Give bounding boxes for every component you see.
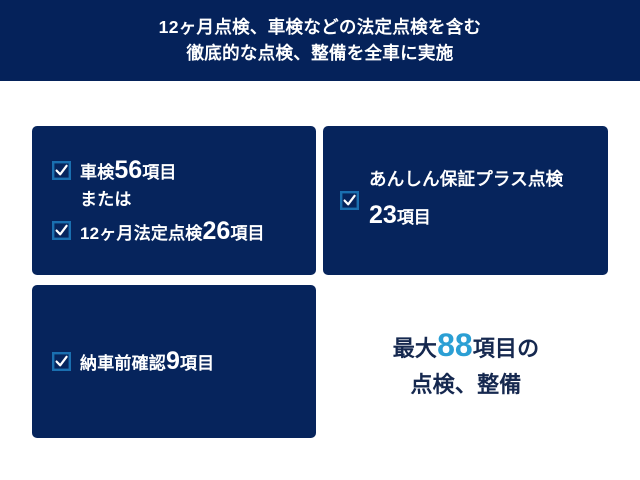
inspection-row-2: または: [52, 190, 316, 210]
card-warranty: あんしん保証プラス点検 23項目: [323, 126, 608, 275]
banner-line-2: 徹底的な点検、整備を全車に実施: [187, 41, 454, 66]
inspection-row-3: 12ヶ月法定点検26項目: [52, 216, 316, 246]
predelivery-suffix: 項目: [180, 354, 214, 373]
warranty-text-block: あんしん保証プラス点検 23項目: [369, 169, 563, 231]
checkbox-checked-icon: [340, 191, 359, 210]
summary-total: 最大88項目の 点検、整備: [324, 285, 608, 438]
summary-line-2: 点検、整備: [410, 369, 521, 401]
inspection-row-3-text: 12ヶ月法定点検26項目: [80, 216, 265, 246]
predelivery-number: 9: [166, 347, 180, 375]
inspection-row-1-text: 車検56項目: [80, 155, 177, 185]
summary-middle: 項目: [473, 336, 517, 361]
warranty-suffix: 項目: [397, 208, 431, 227]
promo-panel: 12ヶ月点検、車検などの法定点検を含む 徹底的な点検、整備を全車に実施 車検56…: [0, 0, 640, 480]
header-banner: 12ヶ月点検、車検などの法定点検を含む 徹底的な点検、整備を全車に実施: [0, 0, 640, 81]
checkbox-checked-icon: [52, 221, 71, 240]
checkbox-checked-icon: [52, 161, 71, 180]
card-inspection: 車検56項目 または 12ヶ月法定点検26項目: [32, 126, 316, 275]
inspection-row-2-text: または: [80, 190, 132, 210]
summary-particle: の: [517, 336, 539, 361]
summary-line-1: 最大88項目の: [393, 322, 540, 368]
predelivery-label: 納車前確認: [80, 354, 166, 373]
inspection-row-1-suffix: 項目: [142, 163, 176, 182]
predelivery-text: 納車前確認9項目: [80, 347, 214, 376]
warranty-line-1: あんしん保証プラス点検: [369, 169, 563, 191]
inspection-row-1-number: 56: [114, 156, 142, 184]
warranty-line-2: 23項目: [369, 199, 563, 232]
card-predelivery: 納車前確認9項目: [32, 285, 316, 438]
inspection-row-1-label: 車検: [80, 163, 114, 182]
inspection-row-1: 車検56項目: [52, 155, 316, 185]
banner-line-1: 12ヶ月点検、車検などの法定点検を含む: [159, 15, 482, 40]
summary-prefix: 最大: [393, 336, 437, 361]
checkbox-checked-icon: [52, 352, 71, 371]
summary-number: 88: [437, 327, 473, 363]
warranty-number: 23: [369, 201, 397, 229]
inspection-row-3-number: 26: [203, 217, 231, 245]
inspection-row-3-label: 12ヶ月法定点検: [80, 224, 203, 243]
inspection-row-3-suffix: 項目: [230, 224, 264, 243]
